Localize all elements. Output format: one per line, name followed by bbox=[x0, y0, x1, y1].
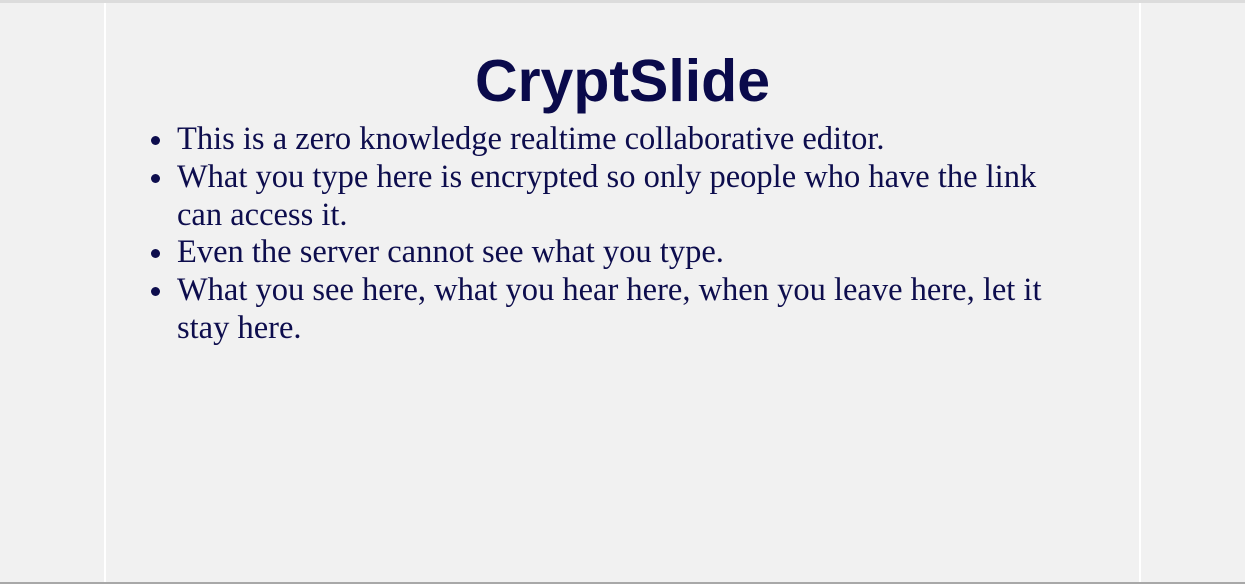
list-item[interactable]: What you type here is encrypted so only … bbox=[106, 159, 1139, 235]
bullet-dot-icon bbox=[151, 287, 160, 296]
list-item[interactable]: Even the server cannot see what you type… bbox=[106, 234, 1139, 272]
slide-editor-viewport: CryptSlide This is a zero knowledge real… bbox=[0, 0, 1245, 584]
bullet-text: What you type here is encrypted so only … bbox=[177, 159, 1082, 235]
bullet-dot-icon bbox=[151, 136, 160, 145]
bullet-dot-icon bbox=[151, 174, 160, 183]
left-pane bbox=[0, 3, 104, 582]
bullet-text: Even the server cannot see what you type… bbox=[177, 234, 1082, 272]
list-item[interactable]: This is a zero knowledge realtime collab… bbox=[106, 121, 1139, 159]
bullet-text: What you see here, what you hear here, w… bbox=[177, 272, 1082, 348]
bullet-text: This is a zero knowledge realtime collab… bbox=[177, 121, 1082, 159]
slide-bullet-list: This is a zero knowledge realtime collab… bbox=[106, 121, 1139, 348]
list-item[interactable]: What you see here, what you hear here, w… bbox=[106, 272, 1139, 348]
slide-canvas[interactable]: CryptSlide This is a zero knowledge real… bbox=[106, 3, 1139, 582]
bullet-dot-icon bbox=[151, 249, 160, 258]
slide-title[interactable]: CryptSlide bbox=[106, 47, 1139, 115]
right-pane bbox=[1141, 3, 1245, 582]
